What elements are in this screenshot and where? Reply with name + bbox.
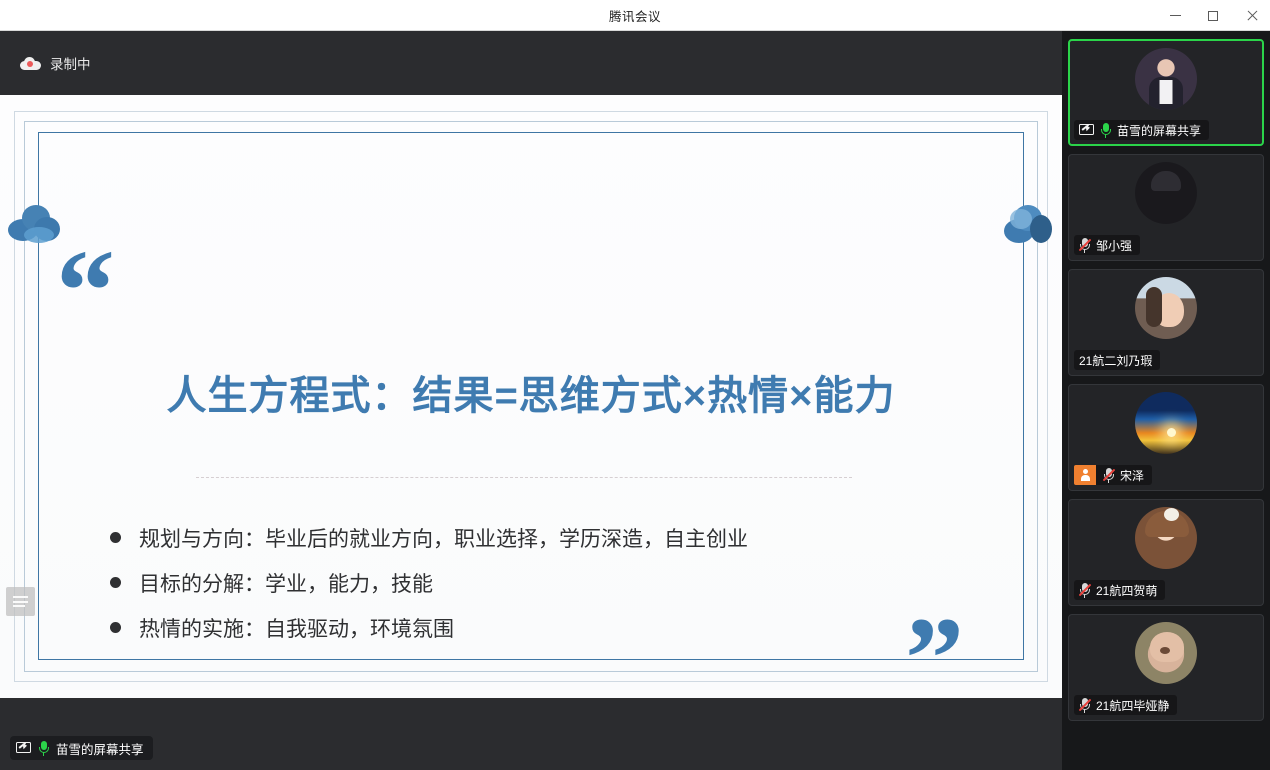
bullet-text: 热情的实施：自我驱动，环境氛围 (139, 613, 454, 643)
participant-tile-5[interactable]: 21航四毕娅静 (1068, 614, 1264, 721)
tencent-meeting-window: 腾讯会议 录制中 (0, 0, 1270, 770)
maximize-icon (1208, 11, 1218, 21)
participant-name: 邹小强 (1096, 237, 1132, 254)
shared-screen-stage: 录制中 “ ” 人生方程式：结果=思维方式×热情×能力 (0, 31, 1062, 770)
slide-bullet-list: 规划与方向：毕业后的就业方向，职业选择，学历深造，自主创业 目标的分解：学业，能… (110, 515, 982, 650)
participant-name-pill: 邹小强 (1074, 235, 1140, 255)
avatar (1135, 622, 1197, 684)
window-title: 腾讯会议 (609, 6, 661, 25)
close-icon (1246, 10, 1257, 21)
minimize-button[interactable] (1156, 0, 1194, 31)
avatar (1135, 392, 1197, 454)
maximize-button[interactable] (1194, 0, 1232, 31)
presentation-slide: “ ” 人生方程式：结果=思维方式×热情×能力 规划与方向：毕业后的就业方向，职… (0, 95, 1062, 698)
participant-name-pill: 苗雪的屏幕共享 (1074, 120, 1209, 140)
participant-name-pill: 21航二刘乃瑕 (1074, 350, 1160, 370)
sharing-status-name: 苗雪的屏幕共享 (56, 739, 144, 758)
participant-name: 宋泽 (1120, 467, 1144, 484)
bullet-dot-icon (110, 622, 121, 633)
meeting-body: 录制中 “ ” 人生方程式：结果=思维方式×热情×能力 (0, 31, 1270, 770)
host-badge-icon (1074, 465, 1096, 485)
microphone-muted-icon (1103, 468, 1114, 483)
shared-content-area[interactable]: “ ” 人生方程式：结果=思维方式×热情×能力 规划与方向：毕业后的就业方向，职… (0, 95, 1062, 698)
avatar (1135, 277, 1197, 339)
list-item: 规划与方向：毕业后的就业方向，职业选择，学历深造，自主创业 (110, 515, 982, 560)
participant-tile-0[interactable]: 苗雪的屏幕共享 (1068, 39, 1264, 146)
cloud-decoration-right-icon (1002, 203, 1054, 247)
avatar (1135, 48, 1197, 110)
close-button[interactable] (1232, 0, 1270, 31)
window-controls (1156, 0, 1270, 31)
slide-divider (196, 477, 852, 478)
microphone-muted-icon (1079, 698, 1090, 713)
menu-list-icon (13, 596, 28, 607)
participant-name: 21航四贺萌 (1096, 582, 1157, 599)
minimize-icon (1170, 15, 1181, 16)
microphone-muted-icon (1079, 238, 1090, 253)
participant-name-pill: 21航四贺萌 (1074, 580, 1165, 600)
participant-tile-2[interactable]: 21航二刘乃瑕 (1068, 269, 1264, 376)
participant-name-pill: 宋泽 (1074, 465, 1152, 485)
participant-tile-4[interactable]: 21航四贺萌 (1068, 499, 1264, 606)
microphone-icon (38, 741, 49, 756)
recording-label: 录制中 (50, 53, 91, 73)
opening-quote-icon: “ (56, 247, 115, 336)
title-bar: 腾讯会议 (0, 0, 1270, 31)
participant-name: 苗雪的屏幕共享 (1117, 122, 1201, 139)
screen-share-icon (1079, 124, 1094, 137)
participant-name-pill: 21航四毕娅静 (1074, 695, 1177, 715)
presenter-menu-button[interactable] (6, 587, 35, 616)
participant-tile-3[interactable]: 宋泽 (1068, 384, 1264, 491)
participant-panel[interactable]: 苗雪的屏幕共享 邹小强 21航二刘乃瑕 (1062, 31, 1270, 770)
participant-tile-1[interactable]: 邹小强 (1068, 154, 1264, 261)
avatar (1135, 162, 1197, 224)
microphone-icon (1100, 123, 1111, 138)
microphone-muted-icon (1079, 583, 1090, 598)
participant-name: 21航二刘乃瑕 (1079, 352, 1152, 369)
sharing-status-pill: 苗雪的屏幕共享 (10, 736, 153, 760)
bullet-dot-icon (110, 532, 121, 543)
stage-bottom-bar: 苗雪的屏幕共享 (0, 698, 1062, 770)
cloud-decoration-left-icon (8, 205, 60, 245)
list-item: 热情的实施：自我驱动，环境氛围 (110, 605, 982, 650)
bullet-text: 目标的分解：学业，能力，技能 (139, 568, 433, 598)
screen-share-icon (16, 742, 31, 755)
list-item: 目标的分解：学业，能力，技能 (110, 560, 982, 605)
avatar (1135, 507, 1197, 569)
bullet-text: 规划与方向：毕业后的就业方向，职业选择，学历深造，自主创业 (139, 523, 748, 553)
recording-bar: 录制中 (0, 31, 1062, 95)
participant-name: 21航四毕娅静 (1096, 697, 1169, 714)
bullet-dot-icon (110, 577, 121, 588)
cloud-recording-icon (20, 57, 41, 70)
slide-title: 人生方程式：结果=思维方式×热情×能力 (0, 363, 1062, 421)
